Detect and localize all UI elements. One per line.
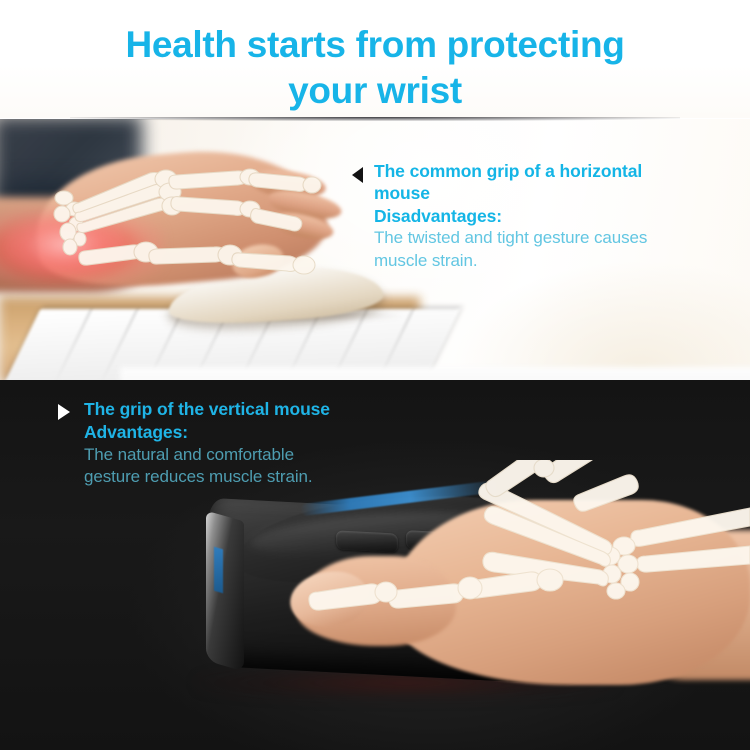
- title-divider-shadow: [70, 117, 680, 121]
- infographic-page: Health starts from protecting your wrist: [0, 0, 750, 750]
- page-title-line-2: your wrist: [0, 63, 750, 109]
- top-label-disadvantages: Disadvantages:: [374, 205, 732, 227]
- triangle-right-icon: [58, 404, 70, 420]
- page-title-line-1: Health starts from protecting: [0, 0, 750, 63]
- bottom-panel: The grip of the vertical mouse Advantage…: [0, 380, 750, 750]
- top-body-line-1: The twisted and tight gesture causes: [374, 227, 732, 249]
- triangle-left-icon: [352, 167, 363, 183]
- keyboard-extension: [120, 367, 750, 380]
- top-body-line-2: muscle strain.: [374, 250, 732, 272]
- top-panel: Health starts from protecting your wrist: [0, 0, 750, 380]
- wrist-pain-core: [4, 215, 124, 275]
- top-headline-line-1: The common grip of a horizontal: [374, 160, 732, 182]
- mouse-side-panel: [206, 511, 244, 672]
- bottom-text-block: The grip of the vertical mouse Advantage…: [58, 398, 458, 489]
- bottom-headline: The grip of the vertical mouse: [84, 398, 458, 421]
- bottom-body-line-1: The natural and comfortable: [84, 444, 458, 467]
- title-banner: Health starts from protecting your wrist: [0, 0, 750, 118]
- top-text-block: The common grip of a horizontal mouse Di…: [352, 160, 732, 272]
- bottom-label-advantages: Advantages:: [84, 421, 458, 444]
- bottom-body-line-2: gesture reduces muscle strain.: [84, 466, 458, 489]
- top-headline-line-2: mouse: [374, 182, 732, 204]
- mouse-blue-side-strip: [214, 547, 223, 594]
